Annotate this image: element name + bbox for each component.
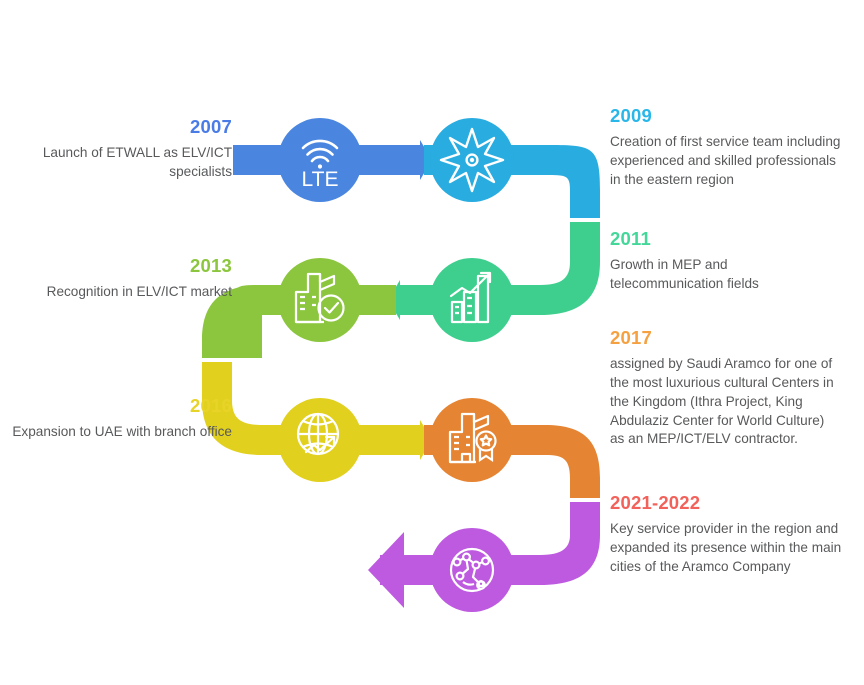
milestone-year-2017: 2017 bbox=[610, 328, 842, 348]
milestone-node-2017[interactable] bbox=[430, 398, 514, 482]
milestone-year-2021-2022: 2021-2022 bbox=[610, 493, 842, 513]
milestone-circle-2011[interactable] bbox=[430, 258, 514, 342]
milestone-text-2016: 2016 Expansion to UAE with branch office bbox=[0, 396, 232, 442]
milestone-description-2016: Expansion to UAE with branch office bbox=[0, 423, 232, 442]
milestone-node-2007[interactable]: LTE bbox=[278, 118, 362, 202]
milestone-text-2009: 2009 Creation of first service team incl… bbox=[610, 106, 842, 190]
milestone-description-2011: Growth in MEP and telecommunication fiel… bbox=[610, 256, 842, 294]
milestone-node-2011[interactable] bbox=[430, 258, 514, 342]
milestone-year-2007: 2007 bbox=[0, 117, 232, 137]
milestone-node-2009[interactable] bbox=[430, 118, 514, 202]
milestone-description-2007: Launch of ETWALL as ELV/ICT specialists bbox=[0, 144, 232, 182]
globe-growth-icon bbox=[298, 414, 338, 454]
milestone-node-2016[interactable] bbox=[278, 398, 362, 482]
milestone-description-2017: assigned by Saudi Aramco for one of the … bbox=[610, 355, 842, 449]
milestone-circle-2016[interactable] bbox=[278, 398, 362, 482]
milestone-year-2013: 2013 bbox=[0, 256, 232, 276]
compass-center-dot-icon bbox=[470, 158, 474, 162]
milestone-text-2011: 2011 Growth in MEP and telecommunication… bbox=[610, 229, 842, 294]
milestone-text-2017: 2017 assigned by Saudi Aramco for one of… bbox=[610, 328, 842, 449]
ribbon-end-arrow-body bbox=[380, 555, 410, 585]
milestone-text-2007: 2007 Launch of ETWALL as ELV/ICT special… bbox=[0, 117, 232, 182]
milestone-description-2009: Creation of first service team including… bbox=[610, 133, 842, 189]
lte-icon-label: LTE bbox=[302, 168, 339, 191]
milestone-circle-2021-2022[interactable] bbox=[430, 528, 514, 612]
milestone-node-2013[interactable] bbox=[278, 258, 362, 342]
milestone-node-2021-2022[interactable] bbox=[430, 528, 514, 612]
milestone-description-2021-2022: Key service provider in the region and e… bbox=[610, 520, 842, 576]
milestone-year-2011: 2011 bbox=[610, 229, 842, 249]
milestone-text-2013: 2013 Recognition in ELV/ICT market bbox=[0, 256, 232, 302]
milestone-year-2009: 2009 bbox=[610, 106, 842, 126]
ribbon-curve-2009-2011 bbox=[545, 145, 600, 218]
milestone-circle-2017[interactable] bbox=[430, 398, 514, 482]
ribbon-curve-2017-2021 bbox=[545, 425, 600, 498]
milestone-year-2016: 2016 bbox=[0, 396, 232, 416]
ribbon-curve-2021-row bbox=[540, 502, 600, 585]
ribbon-curve-2011-row bbox=[540, 222, 600, 315]
milestone-text-2021-2022: 2021-2022 Key service provider in the re… bbox=[610, 493, 842, 577]
milestone-description-2013: Recognition in ELV/ICT market bbox=[0, 283, 232, 302]
timeline-infographic: LTE bbox=[0, 0, 864, 685]
